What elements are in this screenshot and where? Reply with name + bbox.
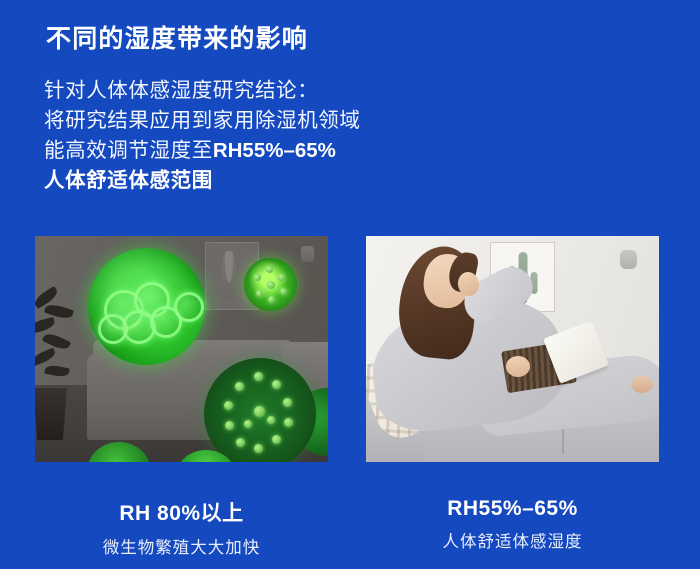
photo-high-humidity bbox=[35, 236, 328, 462]
humidity-infographic: 不同的湿度带来的影响 针对人体体感湿度研究结论： 将研究结果应用到家用除湿机领域… bbox=[0, 0, 700, 569]
woman-foot bbox=[631, 376, 653, 393]
caption-comfort-humidity-main: RH55%–65% bbox=[366, 497, 659, 521]
plant-pot bbox=[35, 388, 67, 440]
copy-line-3: 能高效调节湿度至RH55%–65% bbox=[44, 136, 464, 166]
caption-high-humidity-sub: 微生物繁殖大大加快 bbox=[35, 534, 328, 558]
germ-sphere-small-top bbox=[244, 258, 297, 311]
copy-line-2: 将研究结果应用到家用除湿机领域 bbox=[44, 106, 464, 136]
bright-room-scene bbox=[366, 236, 659, 462]
dark-room-scene bbox=[35, 236, 328, 462]
caption-high-humidity: RH 80%以上 微生物繁殖大大加快 bbox=[35, 497, 328, 558]
bright-wall-speaker-icon bbox=[620, 250, 637, 269]
houseplant-icon bbox=[35, 290, 75, 440]
caption-comfort-humidity-sub: 人体舒适体感湿度 bbox=[366, 528, 659, 552]
copy-line-4: 人体舒适体感范围 bbox=[44, 166, 464, 196]
woman-hand-holding-book bbox=[506, 356, 530, 377]
copy-line-3-prefix: 能高效调节湿度至 bbox=[44, 139, 213, 162]
copy-line-3-highlight: RH55%–65% bbox=[213, 139, 336, 162]
germ-sphere-bottom bbox=[204, 358, 316, 462]
germ-sphere-large bbox=[88, 248, 205, 365]
page-title: 不同的湿度带来的影响 bbox=[46, 19, 308, 55]
caption-comfort-humidity: RH55%–65% 人体舒适体感湿度 bbox=[366, 497, 659, 552]
photo-comfort-humidity bbox=[366, 236, 659, 462]
caption-high-humidity-main: RH 80%以上 bbox=[35, 497, 328, 527]
intro-copy: 针对人体体感湿度研究结论： 将研究结果应用到家用除湿机领域 能高效调节湿度至RH… bbox=[44, 76, 464, 196]
wall-speaker-icon bbox=[301, 246, 314, 262]
copy-line-1: 针对人体体感湿度研究结论： bbox=[44, 76, 464, 106]
